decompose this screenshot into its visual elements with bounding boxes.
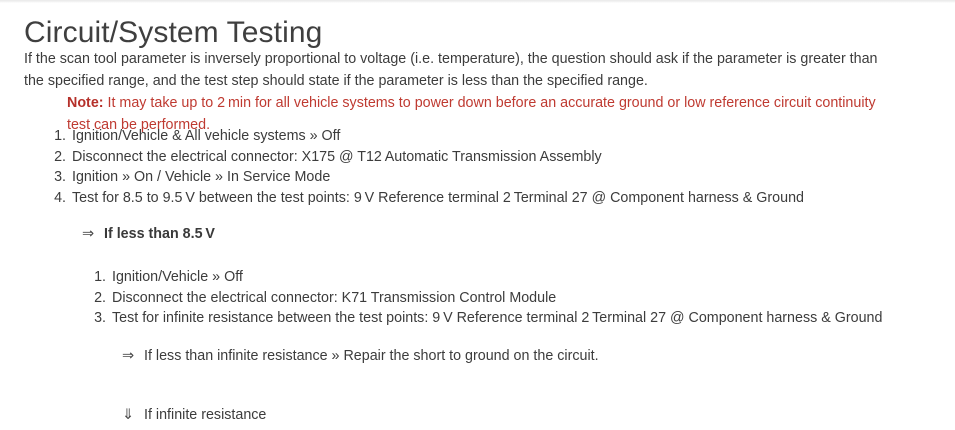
list-item-number: 4. [48,188,66,209]
list-item-text: Disconnect the electrical connector: K71… [112,290,556,306]
list-item-text: Test for 8.5 to 9.5 V between the test p… [72,190,804,206]
list-item: 4.Test for 8.5 to 9.5 V between the test… [48,188,804,209]
branch-condition-secondary: ⇒If less than infinite resistance » Repa… [122,346,599,366]
list-item: 1.Ignition/Vehicle » Off [88,267,882,288]
note-label: Note: [67,95,104,111]
branch-condition-primary-text: If less than 8.5 V [104,226,215,242]
list-item-text: Ignition/Vehicle & All vehicle systems »… [72,128,340,144]
list-item-text: Disconnect the electrical connector: X17… [72,149,602,165]
list-item-text: Test for infinite resistance between the… [112,310,882,326]
rightwards-double-arrow-icon: ⇒ [82,224,104,244]
intro-paragraph: If the scan tool parameter is inversely … [24,48,882,92]
branch-condition-secondary-text: If less than infinite resistance » Repai… [144,348,599,364]
branch-condition-tertiary: ⇓If infinite resistance [122,405,266,425]
rightwards-double-arrow-icon: ⇒ [122,346,144,366]
list-item: 1.Ignition/Vehicle & All vehicle systems… [48,126,804,147]
list-item-number: 3. [88,308,106,329]
list-item-number: 2. [88,288,106,309]
branch-condition-primary: ⇒If less than 8.5 V [82,224,215,244]
page-title: Circuit/System Testing [24,13,322,53]
list-item-text: Ignition » On / Vehicle » In Service Mod… [72,169,330,185]
downwards-double-arrow-icon: ⇓ [122,405,144,425]
list-item: 3.Test for infinite resistance between t… [88,308,882,329]
primary-step-list: 1.Ignition/Vehicle & All vehicle systems… [48,126,804,208]
list-item-number: 1. [48,126,66,147]
list-item-text: Ignition/Vehicle » Off [112,269,243,285]
list-item: 2.Disconnect the electrical connector: K… [88,288,882,309]
list-item: 2.Disconnect the electrical connector: X… [48,147,804,168]
list-item-number: 1. [88,267,106,288]
branch-condition-tertiary-text: If infinite resistance [144,407,266,423]
secondary-step-list: 1.Ignition/Vehicle » Off 2.Disconnect th… [88,267,882,329]
list-item-number: 2. [48,147,66,168]
list-item: 3.Ignition » On / Vehicle » In Service M… [48,167,804,188]
list-item-number: 3. [48,167,66,188]
top-edge-band [0,0,955,3]
document-page: Circuit/System Testing If the scan tool … [0,0,955,430]
